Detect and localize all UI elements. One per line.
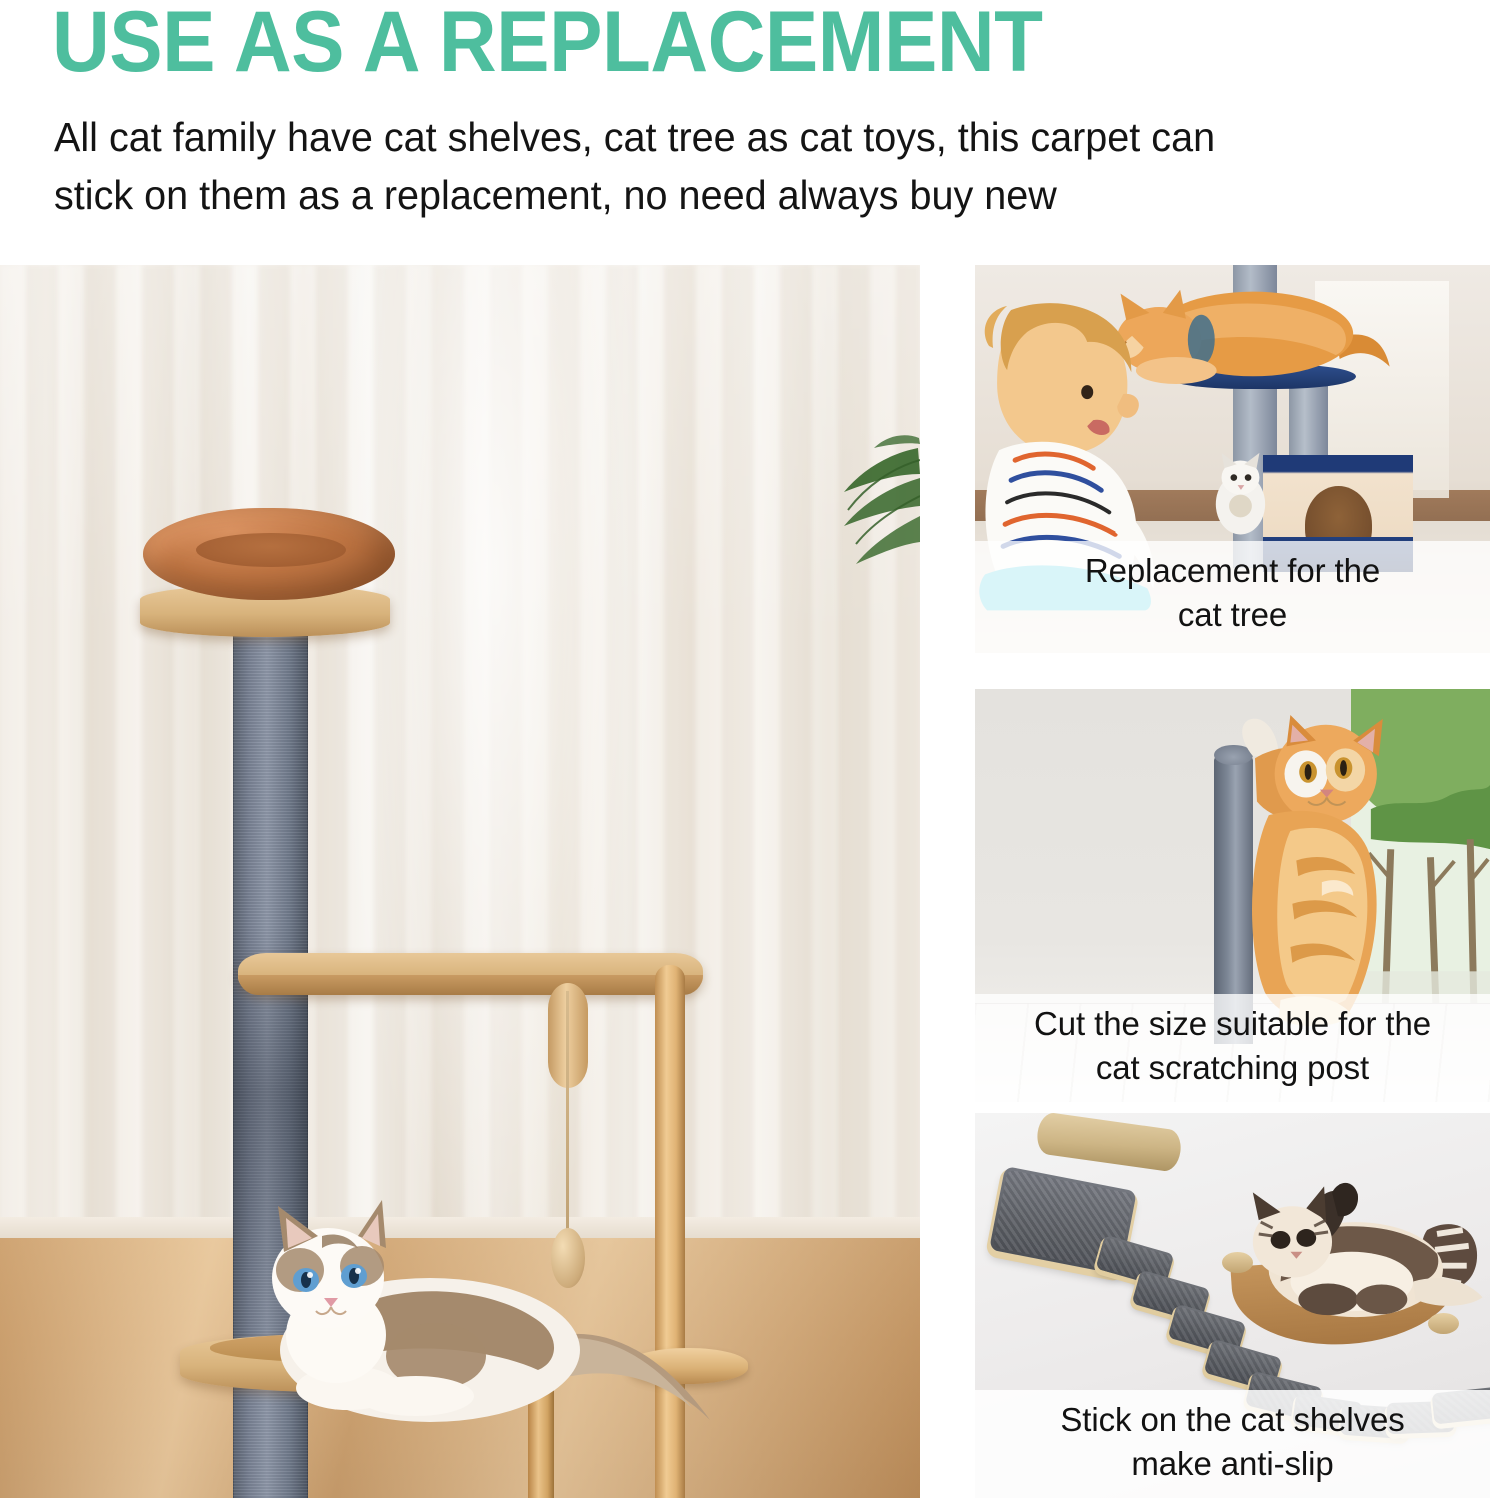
panel-1-caption-line-2: cat tree xyxy=(985,593,1480,637)
panel-2-caption-line-1: Cut the size suitable for the xyxy=(985,1002,1480,1046)
panel-replacement-cat-tree: Replacement for the cat tree xyxy=(975,265,1490,653)
page-subtitle: All cat family have cat shelves, cat tre… xyxy=(54,108,1405,224)
cat-bed-inner xyxy=(196,533,346,567)
subtitle-line-1: All cat family have cat shelves, cat tre… xyxy=(54,108,1405,166)
panel-3-caption: Stick on the cat shelves make anti-slip xyxy=(975,1390,1490,1498)
subtitle-line-2: stick on them as a replacement, no need … xyxy=(54,166,1405,224)
panel-2-caption: Cut the size suitable for the cat scratc… xyxy=(975,994,1490,1102)
panel-1-caption-line-1: Replacement for the xyxy=(985,549,1480,593)
middle-platform-edge xyxy=(238,975,703,995)
orange-cat-scratching-icon xyxy=(1196,710,1412,1040)
white-cat-small-icon xyxy=(1207,451,1274,536)
header-block: USE AS A REPLACEMENT All cat family have… xyxy=(0,0,1500,252)
infographic-page: USE AS A REPLACEMENT All cat family have… xyxy=(0,0,1500,1500)
panel-stick-on-cat-shelves: Stick on the cat shelves make anti-slip xyxy=(975,1113,1490,1498)
panel-1-caption: Replacement for the cat tree xyxy=(975,541,1490,653)
side-panel-column: Replacement for the cat tree xyxy=(975,265,1490,1498)
image-gallery: Replacement for the cat tree xyxy=(0,265,1500,1500)
page-title: USE AS A REPLACEMENT xyxy=(52,0,1043,90)
panel-2-caption-line-2: cat scratching post xyxy=(985,1046,1480,1090)
siamese-cat-lounging-icon xyxy=(1233,1178,1491,1347)
panel-3-caption-line-1: Stick on the cat shelves xyxy=(985,1398,1480,1442)
ragdoll-cat-icon xyxy=(240,1170,720,1460)
panel-3-caption-line-2: make anti-slip xyxy=(985,1442,1480,1486)
hero-product-photo xyxy=(0,265,920,1498)
panel-cut-size-scratching-post: Cut the size suitable for the cat scratc… xyxy=(975,689,1490,1102)
